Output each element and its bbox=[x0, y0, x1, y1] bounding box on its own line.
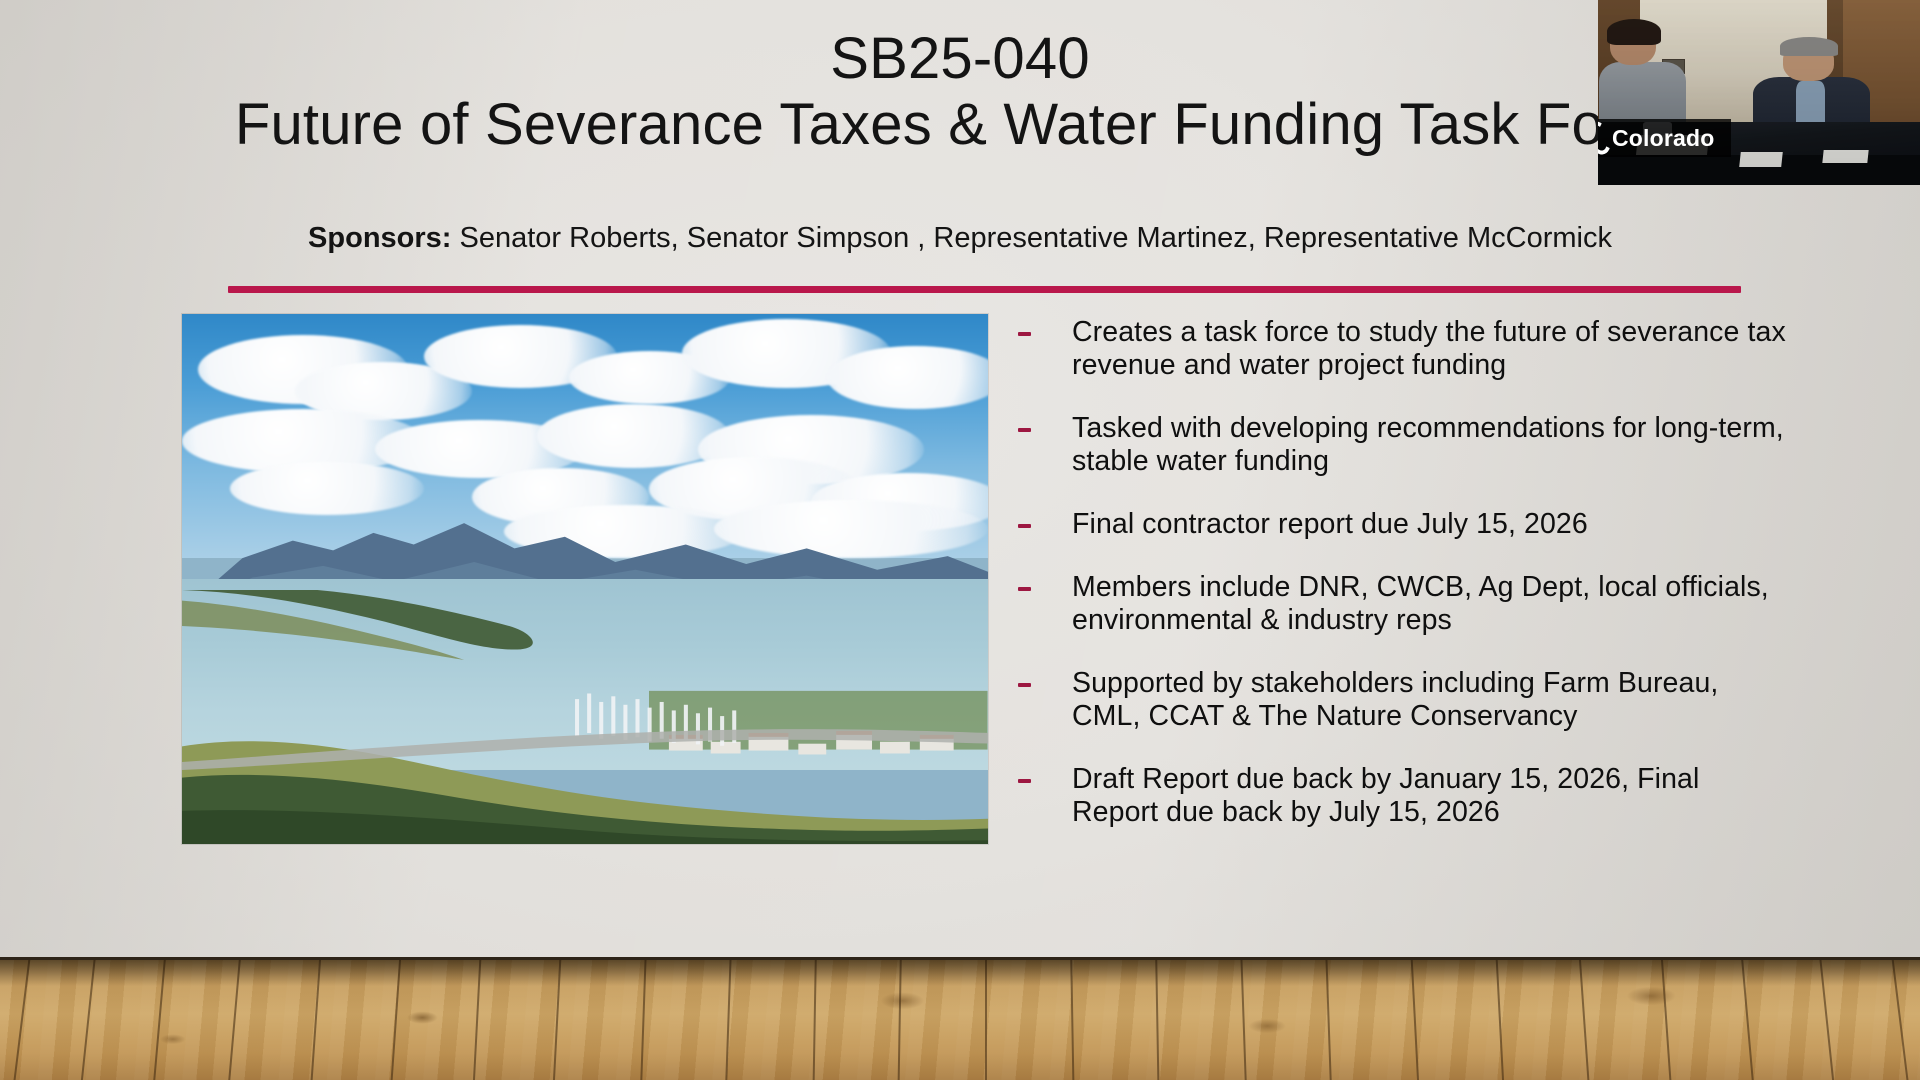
paper-sheet bbox=[1823, 150, 1869, 163]
bullet-text: Draft Report due back by January 15, 202… bbox=[1072, 763, 1788, 829]
list-item: Members include DNR, CWCB, Ag Dept, loca… bbox=[1018, 571, 1788, 637]
bullet-text: Final contractor report due July 15, 202… bbox=[1072, 508, 1588, 541]
wood-floor-decoration bbox=[0, 957, 1920, 1080]
bullet-list: Creates a task force to study the future… bbox=[1018, 316, 1788, 860]
bullet-text: Supported by stakeholders including Farm… bbox=[1072, 667, 1788, 733]
live-video-overlay[interactable]: Colorado bbox=[1598, 0, 1920, 185]
dash-bullet-icon bbox=[1018, 428, 1031, 432]
list-item: Creates a task force to study the future… bbox=[1018, 316, 1788, 382]
photo-peninsula bbox=[182, 590, 633, 717]
paper-sheet bbox=[1739, 152, 1782, 167]
person-hair bbox=[1780, 37, 1838, 55]
dash-bullet-icon bbox=[1018, 524, 1031, 528]
list-item: Supported by stakeholders including Farm… bbox=[1018, 667, 1788, 733]
bullet-text: Members include DNR, CWCB, Ag Dept, loca… bbox=[1072, 571, 1788, 637]
dash-bullet-icon bbox=[1018, 332, 1031, 336]
list-item: Draft Report due back by January 15, 202… bbox=[1018, 763, 1788, 829]
channel-watermark: Colorado bbox=[1598, 119, 1731, 157]
bullet-text: Creates a task force to study the future… bbox=[1072, 316, 1788, 382]
bullet-text: Tasked with developing recommendations f… bbox=[1072, 412, 1788, 478]
sponsors-names: Senator Roberts, Senator Simpson , Repre… bbox=[451, 222, 1612, 254]
person-hair bbox=[1607, 19, 1660, 44]
sponsors-line: Sponsors: Senator Roberts, Senator Simps… bbox=[0, 222, 1920, 255]
channel-label: Colorado bbox=[1612, 125, 1715, 152]
sponsors-label: Sponsors: bbox=[308, 222, 451, 254]
photo-highway bbox=[182, 717, 988, 770]
floor-top-shadow bbox=[0, 960, 1920, 986]
title-divider-rule bbox=[228, 286, 1741, 293]
list-item: Tasked with developing recommendations f… bbox=[1018, 412, 1788, 478]
dash-bullet-icon bbox=[1018, 587, 1031, 591]
dash-bullet-icon bbox=[1018, 683, 1031, 687]
list-item: Final contractor report due July 15, 202… bbox=[1018, 508, 1788, 541]
reservoir-photo bbox=[182, 314, 988, 844]
dash-bullet-icon bbox=[1018, 779, 1031, 783]
